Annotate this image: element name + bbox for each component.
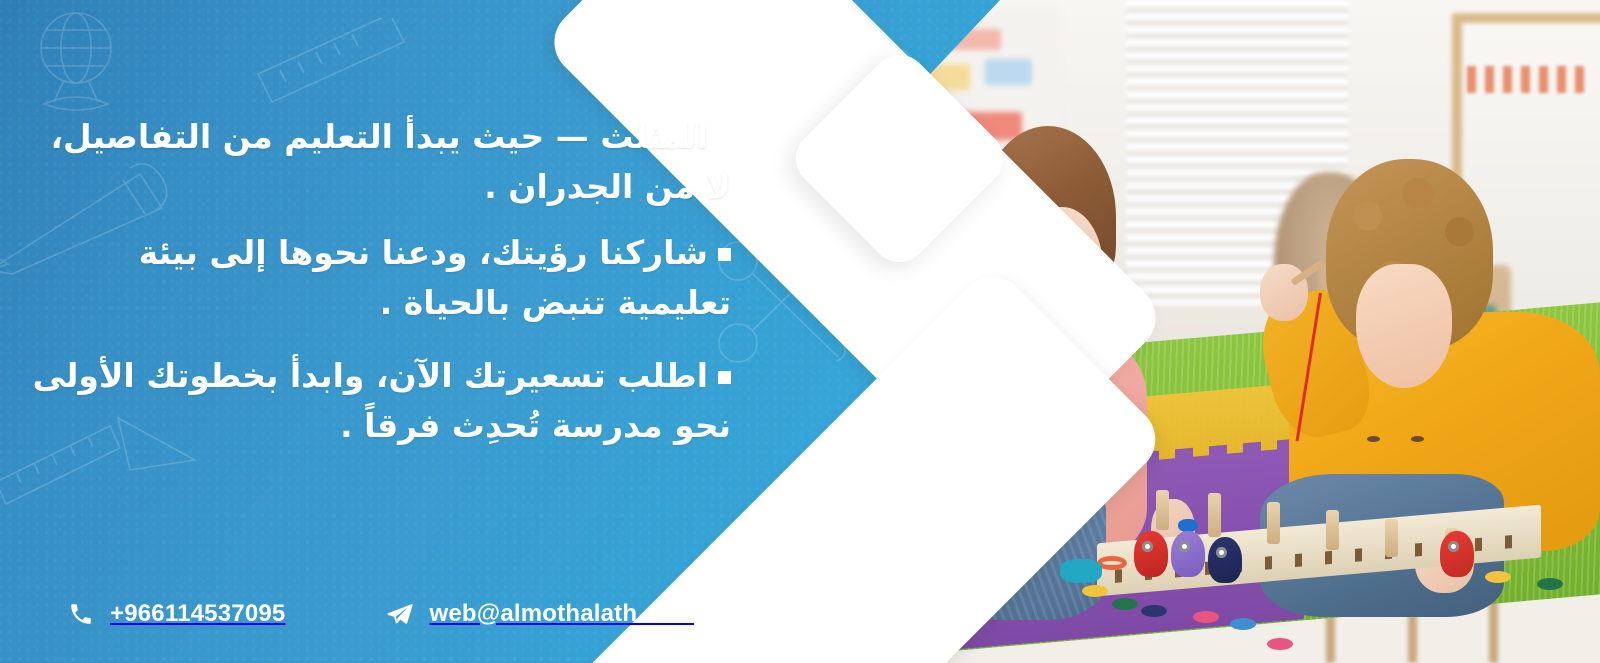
fish-toy-navy <box>1208 537 1242 583</box>
promo-banner: SCHOOL 123 <box>0 0 1600 663</box>
girl-eye <box>1031 363 1045 369</box>
toy-disc <box>1230 618 1256 630</box>
phone-number: +966114537095 <box>110 600 285 628</box>
boy-face <box>1356 264 1452 388</box>
bullet-text-1: المثلث — حيث يبدأ التعليم من التفاصيل، ل… <box>51 117 731 206</box>
wooden-peg <box>1385 519 1398 557</box>
toy-disc <box>1112 598 1138 610</box>
toy-disc <box>1267 638 1293 650</box>
square-bullet-icon <box>718 132 731 145</box>
girl-eye <box>1072 363 1086 369</box>
bullet-text-3: اطلب تسعيرتك الآن، وابدأ بخطوتك الأولى ن… <box>33 356 731 445</box>
bullet-item-2: شاركنا رؤيتك، ودعنا نحوها إلى بيئة تعليم… <box>30 228 731 328</box>
phone-contact[interactable]: +966114537095 <box>66 599 285 629</box>
girl-face <box>1011 207 1103 343</box>
boy-eye <box>1367 436 1380 442</box>
toy-disc <box>1141 605 1167 617</box>
elephant-toy <box>1060 559 1102 583</box>
girl-shirt <box>1011 358 1100 479</box>
bullet-list: المثلث — حيث يبدأ التعليم من التفاصيل، ل… <box>30 112 731 467</box>
contact-bar: +966114537095 web@almothalath.com <box>0 599 745 629</box>
girl-jeans <box>875 479 1106 620</box>
fish-toy-red <box>1134 531 1168 577</box>
wooden-peg <box>1156 490 1169 530</box>
wooden-peg <box>1326 510 1339 550</box>
bullet-item-3: اطلب تسعيرتك الآن، وابدأ بخطوتك الأولى ن… <box>30 351 731 451</box>
wooden-peg <box>1208 493 1221 537</box>
fish-toy-red <box>1440 531 1474 577</box>
bullet-text-2: شاركنا رؤيتك، ودعنا نحوها إلى بيئة تعليم… <box>139 233 731 322</box>
phone-icon <box>66 599 96 629</box>
square-bullet-icon <box>718 248 731 261</box>
email-contact[interactable]: web@almothalath.com <box>385 599 694 629</box>
text-content: المثلث — حيث يبدأ التعليم من التفاصيل، ل… <box>0 0 745 663</box>
email-address: web@almothalath.com <box>429 600 694 628</box>
toy-disc <box>1537 578 1563 590</box>
square-bullet-icon <box>718 371 731 384</box>
paper-plane-icon <box>385 599 415 629</box>
toy-disc <box>1082 585 1108 597</box>
easel-decor <box>1467 66 1585 93</box>
wooden-peg <box>1267 502 1280 544</box>
fish-toy-purple <box>1171 531 1205 577</box>
bus-label: SCHOOL <box>745 89 808 103</box>
bullet-item-1: المثلث — حيث يبدأ التعليم من التفاصيل، ل… <box>30 112 731 212</box>
